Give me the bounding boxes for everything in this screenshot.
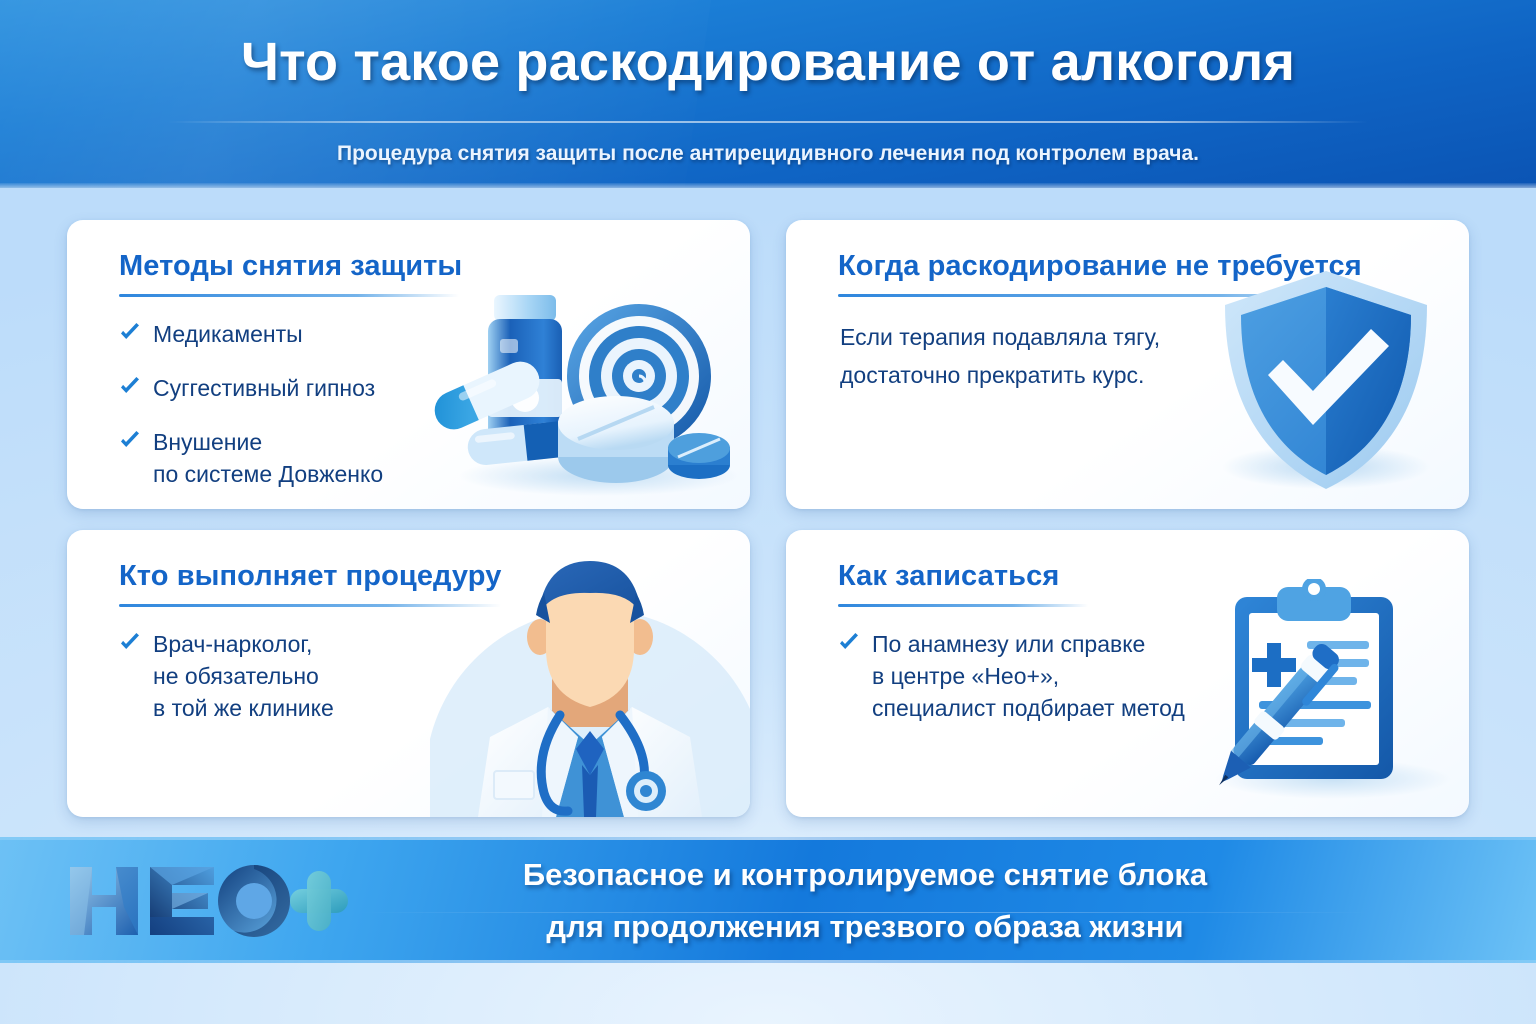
card-body: Если терапия подавляла тягу, достаточно … xyxy=(838,318,1160,394)
check-icon xyxy=(119,632,141,654)
infographic-poster: Что такое раскодирование от алкоголя Про… xyxy=(0,0,1536,1024)
card-title: Когда раскодирование не требуется xyxy=(838,250,1362,283)
footer-line-2: для продолжения трезвого образа жизни xyxy=(360,903,1370,951)
card-title: Методы снятия защиты xyxy=(119,250,462,283)
footer-banner: Безопасное и контролируемое снятие блока… xyxy=(0,837,1536,963)
list-item-label: Внушение по системе Довженко xyxy=(153,426,383,490)
clipboard-pen-illustration xyxy=(1205,579,1455,803)
card-title-underline xyxy=(119,604,501,607)
card-title: Как записаться xyxy=(838,560,1059,593)
card-grid: Методы снятия защиты Медикаменты Сугге xyxy=(67,220,1469,817)
card-title-underline xyxy=(838,604,1088,607)
check-icon xyxy=(119,430,141,452)
card-not-required: Когда раскодирование не требуется Если т… xyxy=(786,220,1469,509)
card-who-performs: Кто выполняет процедуру Врач-нарколог, н… xyxy=(67,530,750,817)
check-icon xyxy=(838,632,860,654)
list-item-label: Суггестивный гипноз xyxy=(153,372,375,404)
brand-logo xyxy=(62,857,352,945)
list-item-label: Врач-нарколог, не обязательно в той же к… xyxy=(153,628,334,724)
page-title: Что такое раскодирование от алкоголя xyxy=(0,31,1536,93)
list-item: Медикаменты xyxy=(119,318,383,350)
card-paragraph: Если терапия подавляла тягу, достаточно … xyxy=(840,318,1160,394)
check-icon xyxy=(119,322,141,344)
card-title-underline xyxy=(838,294,1383,297)
shield-check-illustration xyxy=(1213,267,1439,497)
doctor-illustration xyxy=(430,559,750,817)
card-body: Врач-нарколог, не обязательно в той же к… xyxy=(119,628,334,724)
header-banner: Что такое раскодирование от алкоголя Про… xyxy=(0,0,1536,188)
footer-line-1: Безопасное и контролируемое снятие блока xyxy=(360,851,1370,899)
list-item-label: Медикаменты xyxy=(153,318,303,350)
card-body: По анамнезу или справке в центре «Нео+»,… xyxy=(838,628,1185,724)
page-subtitle: Процедура снятия защиты после антирециди… xyxy=(0,142,1536,166)
list-item: Суггестивный гипноз xyxy=(119,372,383,404)
list-item: Внушение по системе Довженко xyxy=(119,426,383,490)
list-item: По анамнезу или справке в центре «Нео+»,… xyxy=(838,628,1185,724)
footer-tagline: Безопасное и контролируемое снятие блока… xyxy=(360,851,1370,951)
check-icon xyxy=(119,376,141,398)
bullet-list: Медикаменты Суггестивный гипноз Внушение… xyxy=(119,318,383,490)
bullet-list: По анамнезу или справке в центре «Нео+»,… xyxy=(838,628,1185,724)
card-title-underline xyxy=(119,294,459,297)
list-item: Врач-нарколог, не обязательно в той же к… xyxy=(119,628,334,724)
pills-illustration xyxy=(434,271,744,503)
card-title: Кто выполняет процедуру xyxy=(119,560,501,593)
card-how-to-book: Как записаться По анамнезу или справке в… xyxy=(786,530,1469,817)
bullet-list: Врач-нарколог, не обязательно в той же к… xyxy=(119,628,334,724)
card-body: Медикаменты Суггестивный гипноз Внушение… xyxy=(119,318,383,490)
list-item-label: По анамнезу или справке в центре «Нео+»,… xyxy=(872,628,1185,724)
header-divider xyxy=(168,121,1368,123)
card-methods: Методы снятия защиты Медикаменты Сугге xyxy=(67,220,750,509)
